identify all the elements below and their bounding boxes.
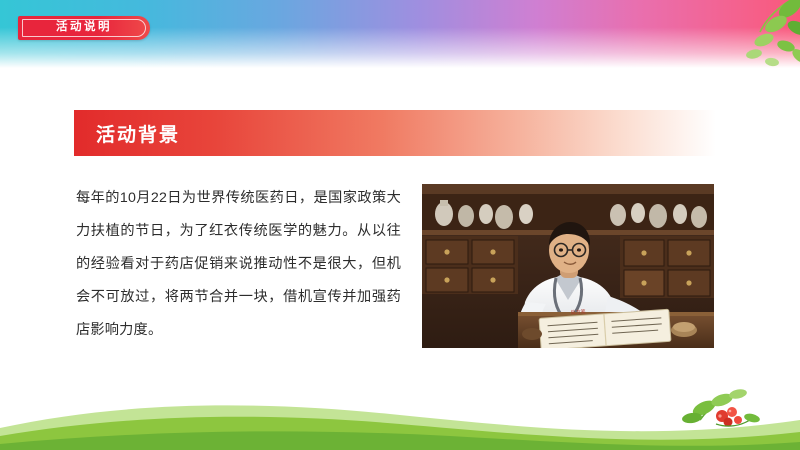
slide-canvas: 活动说明 活动背景 每年的10月22日为世界传统医药日，是国家政策大力扶植的节日… <box>0 0 800 450</box>
section-title-bar: 活动背景 <box>74 110 716 156</box>
ribbon-tag: 活动说明 <box>18 16 150 40</box>
bottom-wave-decoration <box>0 380 800 450</box>
section-title-label: 活动背景 <box>96 120 180 147</box>
body-paragraph: 每年的10月22日为世界传统医药日，是国家政策大力扶植的节日，为了红衣传统医学的… <box>76 182 401 347</box>
svg-text:处方笺: 处方笺 <box>570 308 585 316</box>
ribbon-label: 活动说明 <box>56 22 112 34</box>
berry-herb-icon <box>670 384 762 436</box>
photo-tcm-doctor: 处方笺 <box>422 184 714 348</box>
